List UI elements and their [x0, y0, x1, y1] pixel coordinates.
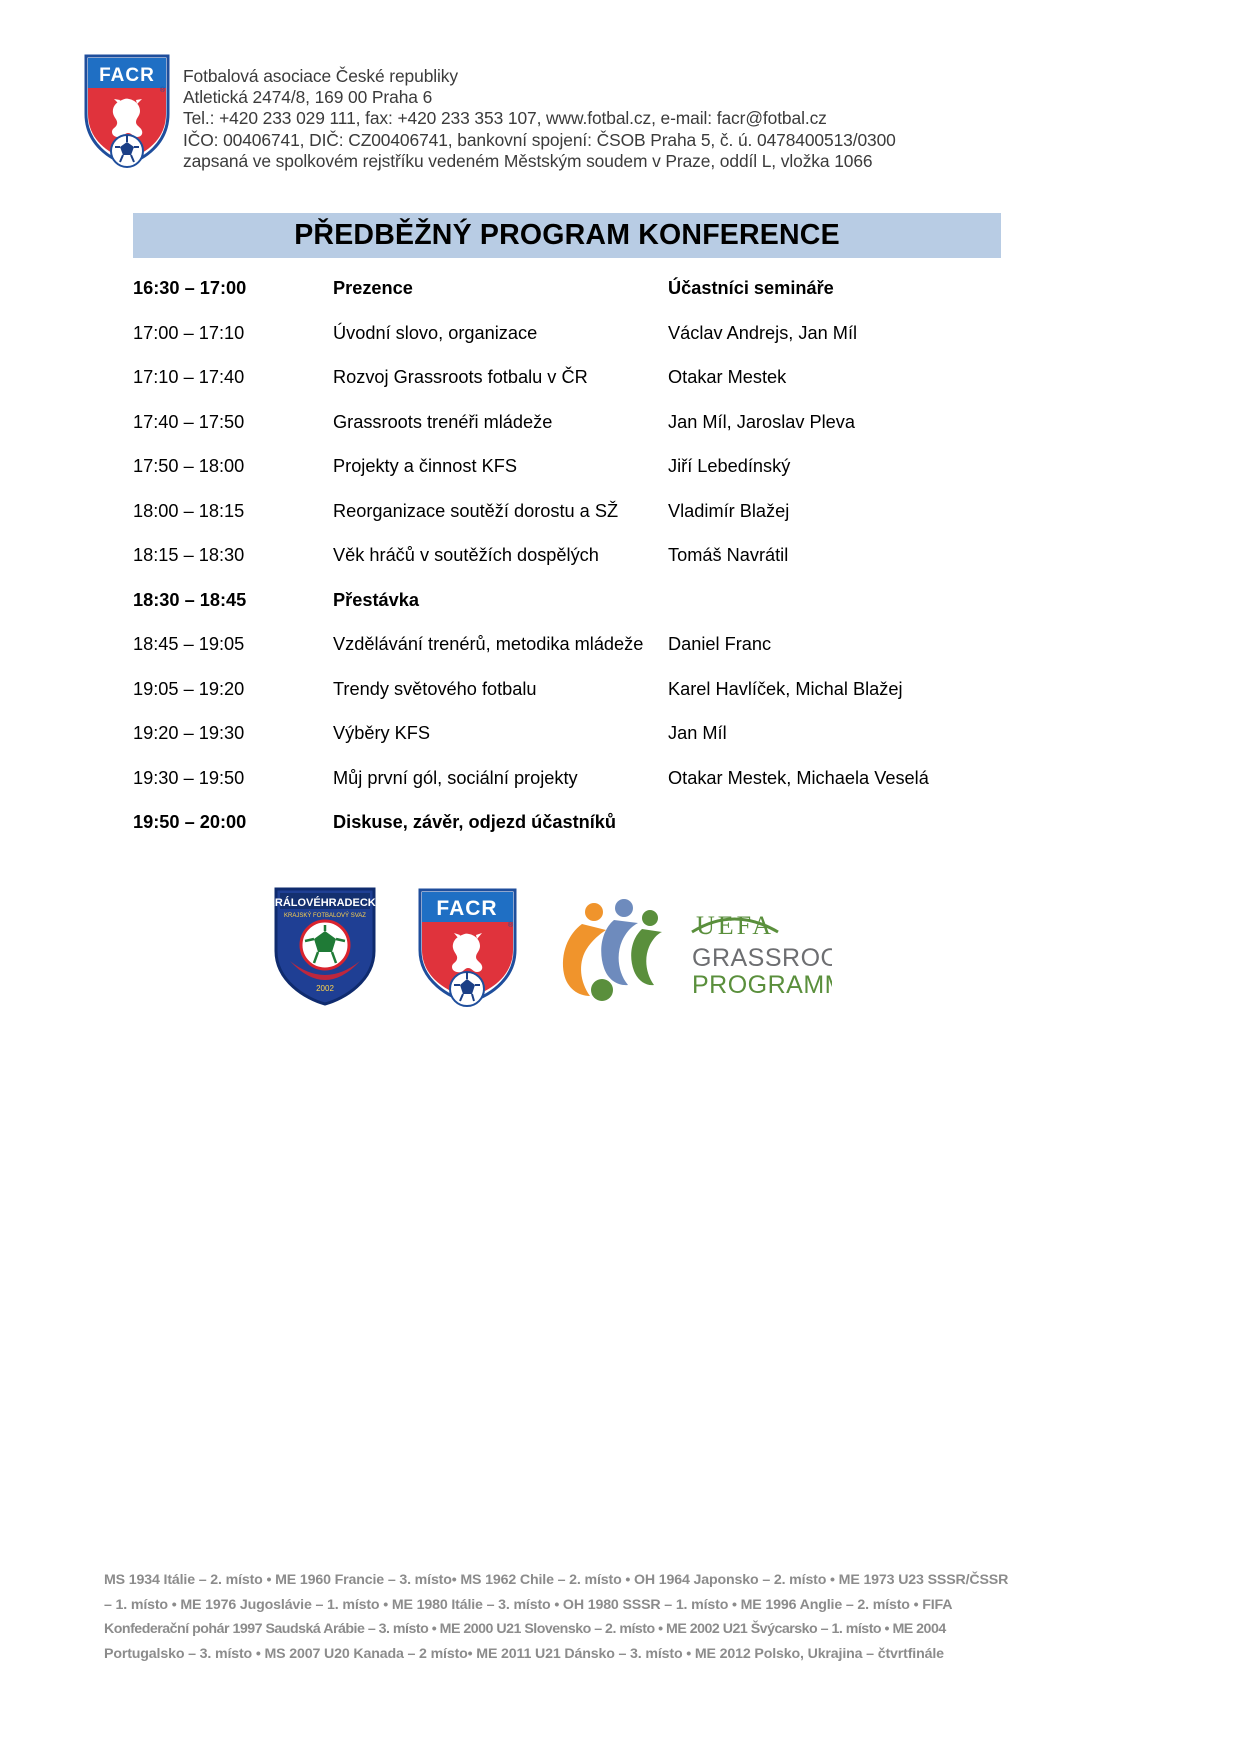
org-ids: IČO: 00406741, DIČ: CZ00406741, bankovní… — [183, 130, 1083, 151]
row-time: 19:05 – 19:20 — [133, 679, 333, 700]
row-topic: Trendy světového fotbalu — [333, 679, 668, 700]
svg-text:®: ® — [508, 921, 514, 929]
row-topic: Reorganizace soutěží dorostu a SŽ — [333, 501, 668, 522]
table-row: 17:50 – 18:00 Projekty a činnost KFS Jiř… — [133, 456, 1063, 501]
org-address: Atletická 2474/8, 169 00 Praha 6 — [183, 87, 1083, 108]
row-time: 19:30 – 19:50 — [133, 768, 333, 789]
row-topic: Věk hráčů v soutěžích dospělých — [333, 545, 668, 566]
table-row: 18:15 – 18:30 Věk hráčů v soutěžích dosp… — [133, 545, 1063, 590]
row-time: 17:00 – 17:10 — [133, 323, 333, 344]
row-speaker: Účastníci semináře — [668, 278, 1068, 299]
row-speaker: Tomáš Navrátil — [668, 545, 1068, 566]
row-speaker: Karel Havlíček, Michal Blažej — [668, 679, 1068, 700]
grassroots-word: GRASSROOTS — [692, 944, 832, 972]
footer-line: Konfederační pohár 1997 Saudská Arábie –… — [104, 1617, 1049, 1642]
row-speaker: Jan Míl — [668, 723, 1068, 744]
table-row: 16:30 – 17:00 Prezence Účastníci seminář… — [133, 278, 1063, 323]
row-speaker: Daniel Franc — [668, 634, 1068, 655]
svg-text:FACR: FACR — [436, 897, 497, 920]
row-topic: Prezence — [333, 278, 668, 299]
footer-line: MS 1934 Itálie – 2. místo • ME 1960 Fran… — [104, 1568, 1049, 1593]
org-registry: zapsaná ve spolkovém rejstříku vedeném M… — [183, 151, 1083, 172]
row-time: 18:30 – 18:45 — [133, 590, 333, 611]
program-schedule-table: 16:30 – 17:00 Prezence Účastníci seminář… — [133, 278, 1063, 857]
row-speaker: Jiří Lebedínský — [668, 456, 1068, 477]
row-time: 19:20 – 19:30 — [133, 723, 333, 744]
row-topic: Grassroots trenéři mládeže — [333, 412, 668, 433]
row-topic: Vzdělávání trenérů, metodika mládeže — [333, 634, 668, 655]
table-row: 19:30 – 19:50 Můj první gól, sociální pr… — [133, 768, 1063, 813]
row-time: 17:10 – 17:40 — [133, 367, 333, 388]
khkfs-year: 2002 — [316, 984, 334, 993]
khkfs-sub-text: KRAJSKÝ FOTBALOVÝ SVAZ — [284, 912, 366, 919]
facr-logo-small-icon: FACR ® — [415, 885, 520, 1007]
row-speaker: Vladimír Blažej — [668, 501, 1068, 522]
row-time: 19:50 – 20:00 — [133, 812, 333, 833]
page-title-bar: PŘEDBĚŽNÝ PROGRAM KONFERENCE — [133, 213, 1001, 258]
table-row: 18:00 – 18:15 Reorganizace soutěží doros… — [133, 501, 1063, 546]
footer-line: Portugalsko – 3. místo • MS 2007 U20 Kan… — [104, 1642, 1049, 1667]
uefa-wordmark: UEFA — [696, 911, 774, 940]
row-time: 18:00 – 18:15 — [133, 501, 333, 522]
row-time: 16:30 – 17:00 — [133, 278, 333, 299]
organization-address-block: Fotbalová asociace České republiky Atlet… — [183, 66, 1083, 172]
table-row: 19:05 – 19:20 Trendy světového fotbalu K… — [133, 679, 1063, 724]
row-topic: Přestávka — [333, 590, 668, 611]
achievements-footer: MS 1934 Itálie – 2. místo • ME 1960 Fran… — [104, 1568, 1049, 1666]
row-topic: Výběry KFS — [333, 723, 668, 744]
row-speaker: Otakar Mestek — [668, 367, 1068, 388]
row-topic: Můj první gól, sociální projekty — [333, 768, 668, 789]
table-row: 19:50 – 20:00 Diskuse, závěr, odjezd úča… — [133, 812, 1063, 857]
row-speaker: Otakar Mestek, Michaela Veselá — [668, 768, 1068, 789]
table-row: 17:00 – 17:10 Úvodní slovo, organizace V… — [133, 323, 1063, 368]
table-row: 19:20 – 19:30 Výběry KFS Jan Míl — [133, 723, 1063, 768]
kralovehradecky-kfs-logo-icon: KRÁLOVÉHRADECKÝ KRAJSKÝ FOTBALOVÝ SVAZ 2… — [270, 883, 380, 1008]
table-row: 17:10 – 17:40 Rozvoj Grassroots fotbalu … — [133, 367, 1063, 412]
table-row: 17:40 – 17:50 Grassroots trenéři mládeže… — [133, 412, 1063, 457]
facr-logo-icon: FACR ® — [82, 52, 172, 168]
org-contact: Tel.: +420 233 029 111, fax: +420 233 35… — [183, 108, 1083, 129]
letterhead: FACR ® Fotbalová asociace České republik… — [0, 52, 1242, 182]
row-topic: Projekty a činnost KFS — [333, 456, 668, 477]
row-time: 17:40 – 17:50 — [133, 412, 333, 433]
row-time: 18:45 – 19:05 — [133, 634, 333, 655]
khkfs-top-text: KRÁLOVÉHRADECKÝ — [270, 896, 380, 909]
row-topic: Rozvoj Grassroots fotbalu v ČR — [333, 367, 668, 388]
programme-word: PROGRAMME — [692, 971, 832, 999]
footer-line: – 1. místo • ME 1976 Jugoslávie – 1. mís… — [104, 1593, 1049, 1618]
svg-text:®: ® — [160, 86, 166, 94]
document-page: FACR ® Fotbalová asociace České republik… — [0, 0, 1242, 1754]
svg-text:FACR: FACR — [99, 65, 155, 86]
row-time: 18:15 – 18:30 — [133, 545, 333, 566]
table-row: 18:45 – 19:05 Vzdělávání trenérů, metodi… — [133, 634, 1063, 679]
row-topic: Diskuse, závěr, odjezd účastníků — [333, 812, 668, 833]
row-speaker: Václav Andrejs, Jan Míl — [668, 323, 1068, 344]
page-title: PŘEDBĚŽNÝ PROGRAM KONFERENCE — [294, 219, 840, 252]
org-name: Fotbalová asociace České republiky — [183, 66, 1083, 87]
table-row: 18:30 – 18:45 Přestávka — [133, 590, 1063, 635]
row-time: 17:50 – 18:00 — [133, 456, 333, 477]
row-speaker: Jan Míl, Jaroslav Pleva — [668, 412, 1068, 433]
uefa-grassroots-logo-icon: UEFA GRASSROOTS PROGRAMME — [542, 898, 832, 1008]
partner-logos: KRÁLOVÉHRADECKÝ KRAJSKÝ FOTBALOVÝ SVAZ 2… — [270, 880, 970, 1020]
row-topic: Úvodní slovo, organizace — [333, 323, 668, 344]
